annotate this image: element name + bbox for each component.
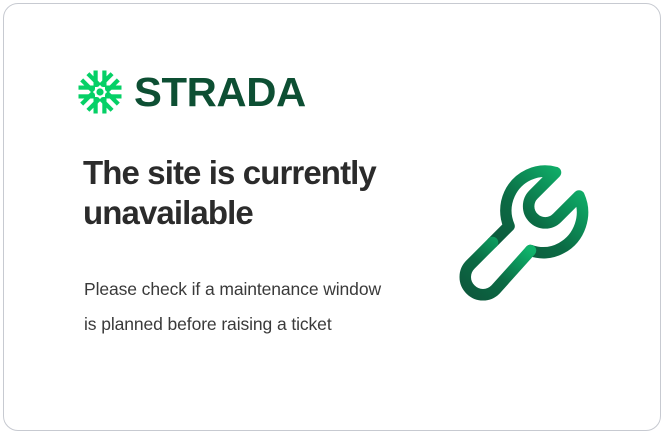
strada-asterisk-mark-icon (78, 70, 122, 114)
error-page: STRADA The site is currently unavailable… (0, 0, 666, 436)
brand-logo: STRADA (78, 70, 302, 114)
wrench-icon (459, 161, 617, 315)
page-title: The site is currently unavailable (83, 153, 413, 232)
status-card: STRADA The site is currently unavailable… (3, 3, 661, 431)
brand-wordmark: STRADA (134, 72, 306, 113)
status-description: Please check if a maintenance window is … (84, 272, 394, 342)
